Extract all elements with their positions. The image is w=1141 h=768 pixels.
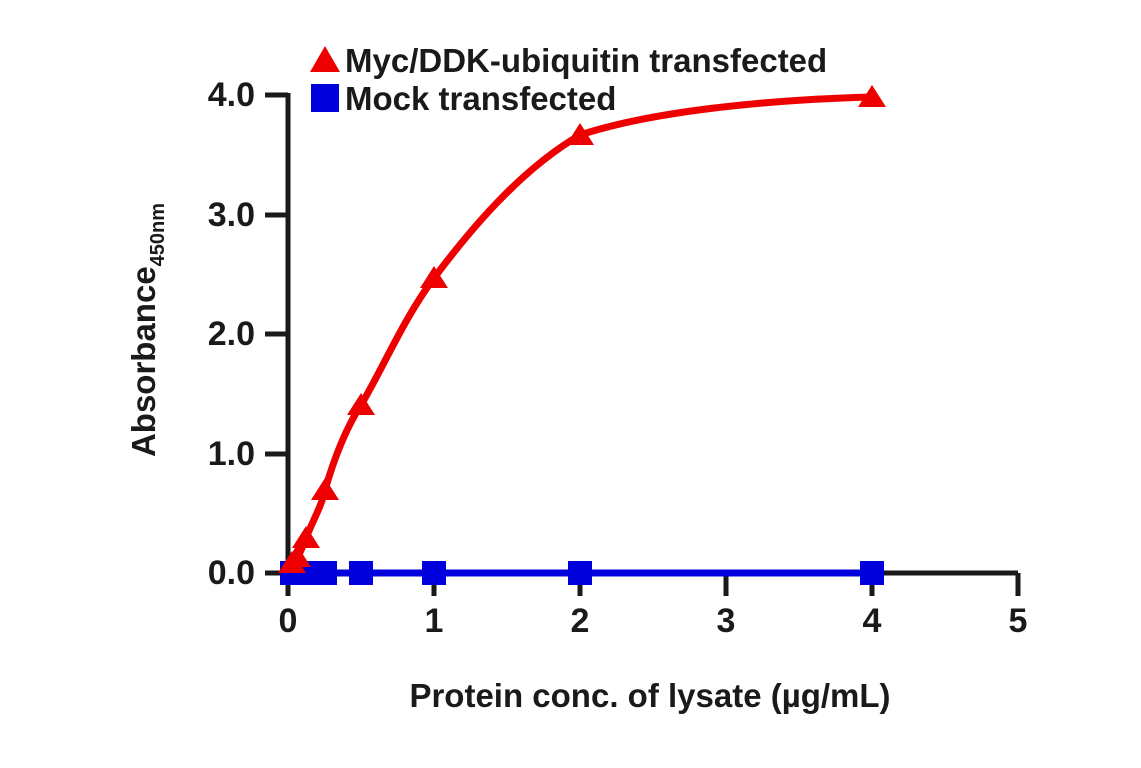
legend-label-ubiquitin: Myc/DDK-ubiquitin transfected [345, 42, 827, 79]
x-axis-title: Protein conc. of lysate (µg/mL) [409, 677, 890, 714]
y-tick-label-0: 0.0 [208, 554, 255, 592]
data-point-mock-4 [349, 561, 373, 585]
x-tick-label-4: 4 [863, 602, 882, 640]
legend-triangle-icon [310, 46, 340, 72]
y-axis-title-text: Absorbance450nm [125, 203, 169, 457]
y-axis-title-main: Absorbance [125, 266, 162, 457]
data-point-mock-3 [313, 561, 337, 585]
data-point-mock-7 [860, 561, 884, 585]
x-tick-label-5: 5 [1009, 602, 1028, 640]
y-tick-label-3: 3.0 [208, 196, 255, 234]
y-tick-labels: 4.0 3.0 2.0 1.0 0.0 [208, 76, 255, 592]
legend-item-mock: Mock transfected [311, 80, 616, 117]
x-tick-label-3: 3 [717, 602, 736, 640]
data-point-mock-5 [422, 561, 446, 585]
legend-item-ubiquitin: Myc/DDK-ubiquitin transfected [310, 42, 827, 79]
x-tick-label-0: 0 [279, 602, 298, 640]
series-ubiquitin-markers [278, 85, 886, 573]
chart-figure: 4.0 3.0 2.0 1.0 0.0 0 1 2 3 4 5 Absorban… [0, 0, 1141, 768]
y-axis-title-subscript: 450nm [147, 203, 169, 266]
legend-label-mock: Mock transfected [345, 80, 616, 117]
x-tick-labels: 0 1 2 3 4 5 [279, 602, 1028, 640]
series-mock-transfected [280, 561, 884, 585]
series-myc-ddk-ubiquitin-transfected [278, 85, 886, 573]
y-tick-label-4: 4.0 [208, 76, 255, 114]
data-point-ubiquitin-4 [347, 393, 375, 415]
legend-square-icon [311, 84, 339, 112]
data-point-ubiquitin-3 [311, 478, 339, 500]
y-axis-title: Absorbance450nm [125, 203, 169, 457]
absorbance-elisa-plot: 4.0 3.0 2.0 1.0 0.0 0 1 2 3 4 5 Absorban… [0, 0, 1141, 768]
data-point-ubiquitin-2 [292, 526, 320, 548]
series-ubiquitin-curve [292, 97, 872, 564]
y-tick-marks [265, 95, 288, 573]
y-tick-label-1: 1.0 [208, 435, 255, 473]
x-tick-label-1: 1 [425, 602, 444, 640]
axes-group [265, 93, 1018, 596]
data-point-mock-6 [568, 561, 592, 585]
x-tick-label-2: 2 [571, 602, 590, 640]
y-tick-label-2: 2.0 [208, 315, 255, 353]
